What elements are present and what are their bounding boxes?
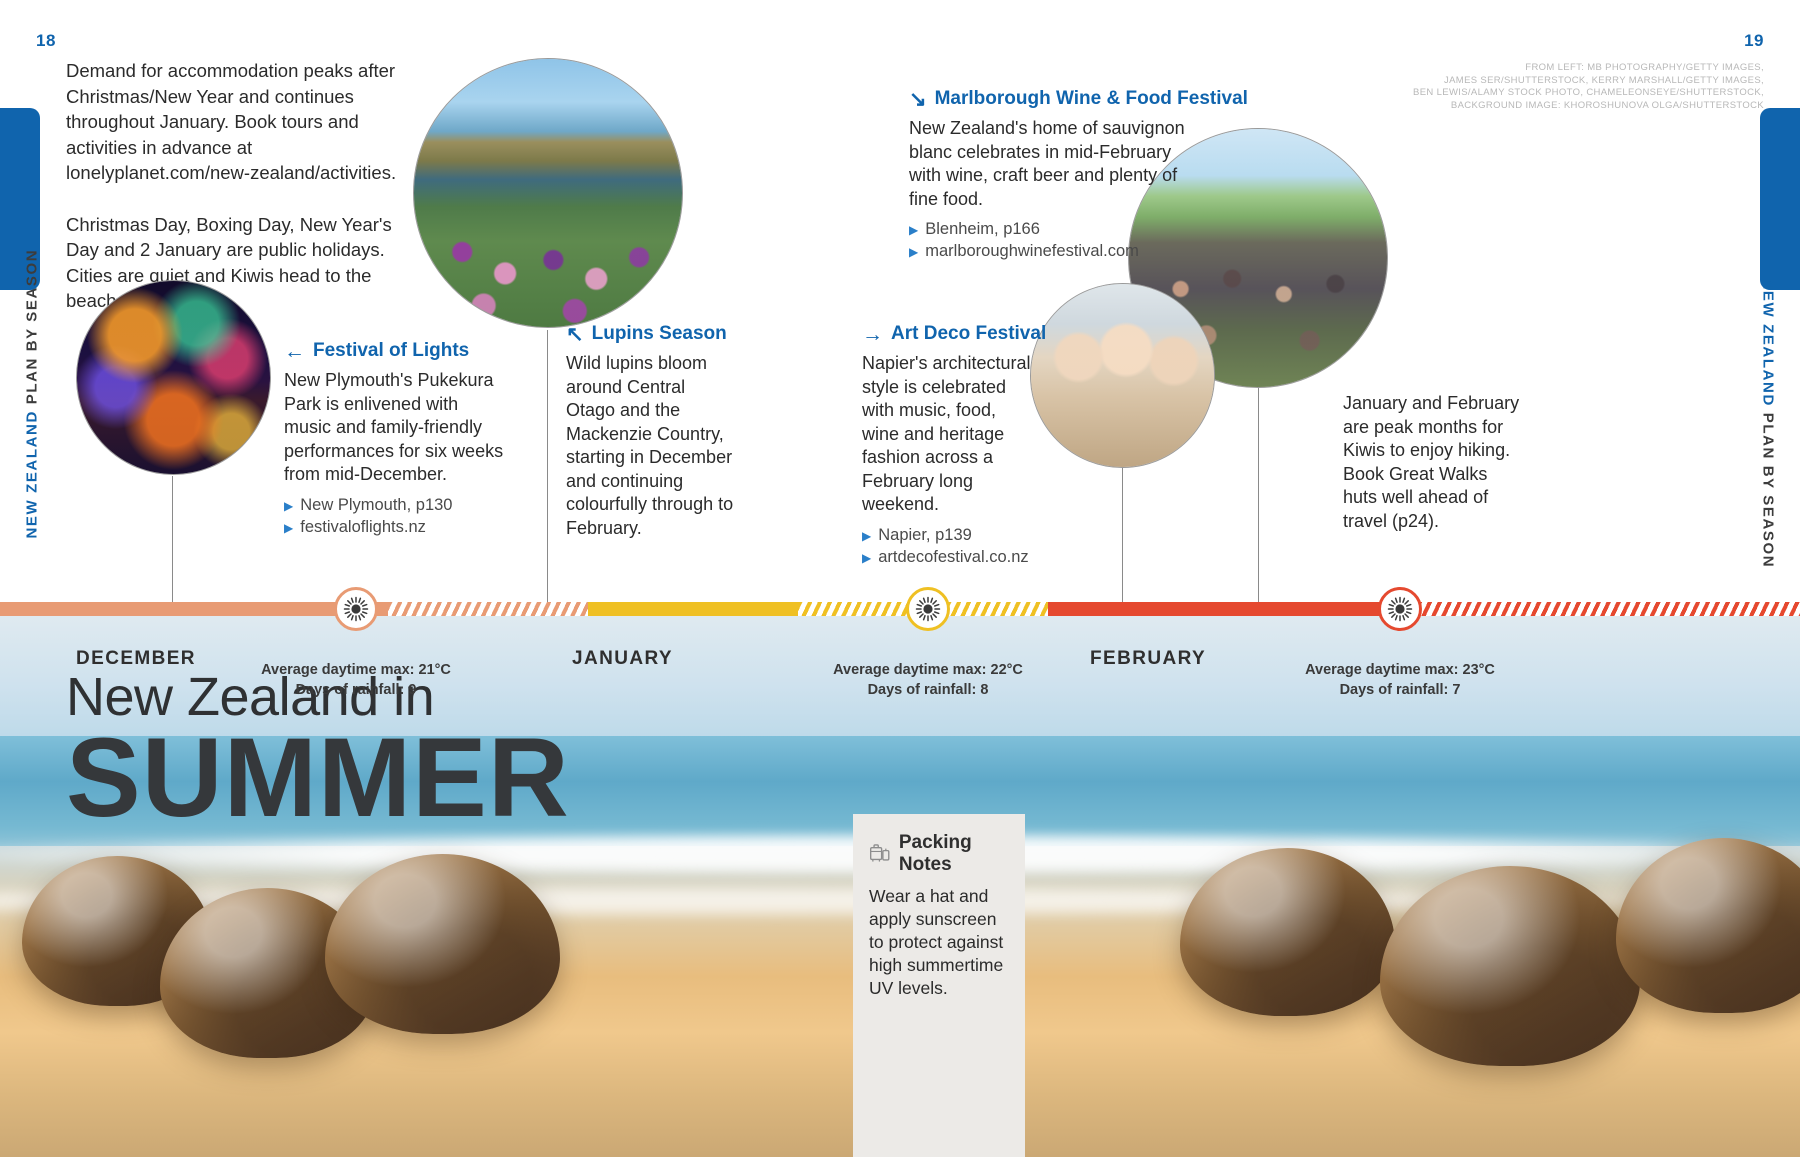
leader-line-lupins xyxy=(547,330,548,604)
event-heading-lupins-season: ↖ Lupins Season xyxy=(566,323,734,345)
headline-line-2: SUMMER xyxy=(66,726,570,830)
intro-paragraph-1: Demand for accommodation peaks after Chr… xyxy=(66,58,416,186)
sidebar-label-right: NEW ZEALAND PLAN BY SEASON xyxy=(1760,279,1777,539)
leader-line-artdeco xyxy=(1122,468,1123,604)
event-heading-art-deco: → Art Deco Festival xyxy=(862,323,1034,345)
triangle-bullet-icon: ▶ xyxy=(862,530,871,542)
timeline-segment-january-solid xyxy=(588,602,798,616)
event-body-lupins-season: Wild lupins bloom around Central Otago a… xyxy=(566,352,734,540)
event-heading-festival-of-lights: ← Festival of Lights xyxy=(284,340,510,362)
link-item[interactable]: ▶New Plymouth, p130 xyxy=(284,494,510,516)
event-art-deco-festival: → Art Deco Festival Napier's architectur… xyxy=(862,323,1034,568)
event-body-marlborough: New Zealand's home of sauvignon blanc ce… xyxy=(909,117,1199,211)
credit-line-2: JAMES SER/SHUTTERSTOCK, KERRY MARSHALL/G… xyxy=(1413,75,1764,88)
leader-line-crowd xyxy=(1258,388,1259,604)
rain-days-january: Days of rainfall: 8 xyxy=(813,680,1043,700)
event-body-art-deco: Napier's architectural style is celebrat… xyxy=(862,352,1034,517)
packing-notes-body: Wear a hat and apply sunscreen to protec… xyxy=(869,885,1009,1000)
triangle-bullet-icon: ▶ xyxy=(909,224,918,236)
timeline-stats-february: Average daytime max: 23°C Days of rainfa… xyxy=(1285,660,1515,700)
sidebar-section-right: PLAN BY SEASON xyxy=(1760,413,1777,568)
event-body-great-walks: January and February are peak months for… xyxy=(1343,392,1523,533)
sun-icon xyxy=(915,596,941,622)
packing-notes-panel: Packing Notes Wear a hat and apply sunsc… xyxy=(853,814,1025,1157)
season-timeline xyxy=(0,602,1800,616)
event-links-marlborough: ▶Blenheim, p166 ▶marlboroughwinefestival… xyxy=(909,218,1199,262)
sidebar-brand-right: NEW ZEALAND xyxy=(1760,279,1777,407)
photo-lupins xyxy=(413,58,683,328)
sun-marker-december xyxy=(334,587,378,631)
festival-lights-image xyxy=(77,281,270,474)
sun-icon xyxy=(1387,596,1413,622)
triangle-bullet-icon: ▶ xyxy=(909,246,918,258)
event-heading-marlborough: ↘ Marlborough Wine & Food Festival xyxy=(909,88,1199,110)
link-item[interactable]: ▶marlboroughwinefestival.com xyxy=(909,240,1199,262)
timeline-stats-december: Average daytime max: 21°C Days of rainfa… xyxy=(241,660,471,700)
avg-temp-january: Average daytime max: 22°C xyxy=(813,660,1043,680)
timeline-segment-february-hatch xyxy=(1398,602,1800,616)
art-deco-image xyxy=(1031,284,1214,467)
credit-line-3: BEN LEWIS/ALAMY STOCK PHOTO, CHAMELEONSE… xyxy=(1413,87,1764,100)
sun-marker-february xyxy=(1378,587,1422,631)
arrow-left-icon: ← xyxy=(284,341,305,362)
lupins-image xyxy=(414,59,682,327)
event-title-marlborough: Marlborough Wine & Food Festival xyxy=(935,88,1248,110)
suitcase-icon xyxy=(869,841,891,867)
event-festival-of-lights: ← Festival of Lights New Plymouth's Puke… xyxy=(284,340,510,538)
timeline-segment-february-solid xyxy=(1208,602,1398,616)
avg-temp-december: Average daytime max: 21°C xyxy=(241,660,471,680)
timeline-month-january: JANUARY xyxy=(572,648,673,670)
timeline-month-february: FEBRUARY xyxy=(1090,648,1206,670)
event-great-walks-note: January and February are peak months for… xyxy=(1343,392,1523,533)
link-item[interactable]: ▶Napier, p139 xyxy=(862,524,1034,546)
photo-art-deco xyxy=(1030,283,1215,468)
packing-notes-title: Packing Notes xyxy=(899,832,1009,876)
triangle-bullet-icon: ▶ xyxy=(284,522,293,534)
arrow-right-icon: → xyxy=(862,324,883,345)
triangle-bullet-icon: ▶ xyxy=(284,500,293,512)
sidebar-label-left: NEW ZEALAND PLAN BY SEASON xyxy=(24,279,41,539)
timeline-stats-january: Average daytime max: 22°C Days of rainfa… xyxy=(813,660,1043,700)
page-number-left: 18 xyxy=(36,31,56,51)
event-title-festival-of-lights: Festival of Lights xyxy=(313,340,469,362)
rain-days-december: Days of rainfall: 9 xyxy=(241,680,471,700)
magazine-spread: 18 19 NEW ZEALAND PLAN BY SEASON NEW ZEA… xyxy=(0,0,1800,1157)
credit-line-4: BACKGROUND IMAGE: KHOROSHUNOVA OLGA/SHUT… xyxy=(1413,100,1764,113)
packing-notes-header: Packing Notes xyxy=(869,832,1009,876)
section-tab-right xyxy=(1760,108,1800,290)
link-item[interactable]: ▶festivaloflights.nz xyxy=(284,516,510,538)
timeline-month-december: DECEMBER xyxy=(76,648,196,670)
link-item[interactable]: ▶artdecofestival.co.nz xyxy=(862,546,1034,568)
credit-line-1: FROM LEFT: MB PHOTOGRAPHY/GETTY IMAGES, xyxy=(1413,62,1764,75)
arrow-down-right-icon: ↘ xyxy=(909,89,927,110)
photo-festival-of-lights xyxy=(76,280,271,475)
sidebar-section-left: PLAN BY SEASON xyxy=(24,249,41,404)
event-marlborough-wine-food-festival: ↘ Marlborough Wine & Food Festival New Z… xyxy=(909,88,1199,262)
arrow-up-left-icon: ↖ xyxy=(566,324,584,345)
event-links-festival-of-lights: ▶New Plymouth, p130 ▶festivaloflights.nz xyxy=(284,494,510,538)
sun-marker-january xyxy=(906,587,950,631)
intro-copy: Demand for accommodation peaks after Chr… xyxy=(66,58,416,314)
triangle-bullet-icon: ▶ xyxy=(862,552,871,564)
page-number-right: 19 xyxy=(1744,31,1764,51)
link-item[interactable]: ▶Blenheim, p166 xyxy=(909,218,1199,240)
event-links-art-deco: ▶Napier, p139 ▶artdecofestival.co.nz xyxy=(862,524,1034,568)
timeline-segment-december-hatch xyxy=(388,602,588,616)
avg-temp-february: Average daytime max: 23°C xyxy=(1285,660,1515,680)
event-title-lupins-season: Lupins Season xyxy=(592,323,727,345)
sidebar-brand-left: NEW ZEALAND xyxy=(24,410,41,538)
sun-icon xyxy=(343,596,369,622)
event-lupins-season: ↖ Lupins Season Wild lupins bloom around… xyxy=(566,323,734,540)
event-body-festival-of-lights: New Plymouth's Pukekura Park is enlivene… xyxy=(284,369,510,487)
rain-days-february: Days of rainfall: 7 xyxy=(1285,680,1515,700)
event-title-art-deco: Art Deco Festival xyxy=(891,323,1046,345)
leader-line-december xyxy=(172,476,173,604)
timeline-segment-february-solid-b xyxy=(1048,602,1208,616)
timeline-segment-december-solid xyxy=(0,602,388,616)
photo-credits: FROM LEFT: MB PHOTOGRAPHY/GETTY IMAGES, … xyxy=(1413,62,1764,112)
